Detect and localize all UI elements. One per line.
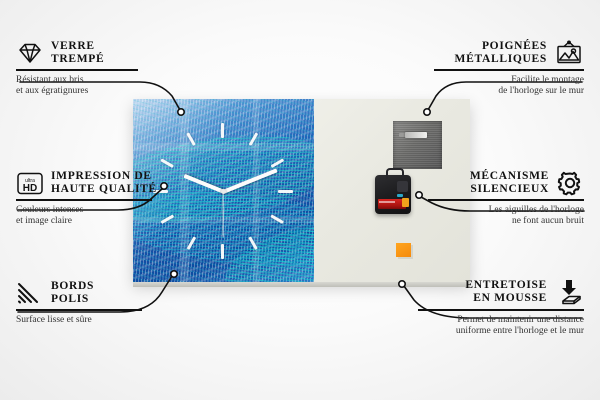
clock-tick	[221, 244, 224, 259]
quartz-movement	[375, 175, 411, 214]
second-hand	[222, 192, 223, 238]
callout-title-line: EN MOUSSE	[465, 292, 547, 305]
movement-hook	[386, 168, 404, 179]
callout-header: ultra HD IMPRESSION DE HAUTE QUALITÉ	[16, 170, 176, 196]
svg-text:HD: HD	[23, 183, 37, 194]
callout-header: BORDS POLIS	[16, 280, 166, 306]
callout-subtitle-line: Surface lisse et sûre	[16, 315, 166, 327]
foam-spacer-icon	[554, 278, 584, 306]
callout-rule	[428, 199, 584, 201]
callout-entretoise-en-mousse: ENTRETOISE EN MOUSSE Permet de maintenir…	[418, 278, 584, 338]
clock-center-hub	[221, 189, 226, 194]
callout-subtitle-line: uniforme entre l'horloge et le mur	[418, 326, 584, 338]
callout-subtitle-line: Couleurs intenses	[16, 205, 176, 217]
ultra-hd-badge-icon: ultra HD	[16, 171, 44, 196]
callout-title-line: TREMPÉ	[51, 53, 104, 66]
callout-subtitle-line: Permet de maintenir une distance	[418, 315, 584, 327]
movement-marker	[397, 194, 403, 197]
product-clock-photo	[133, 99, 470, 282]
hanger-slot	[405, 132, 427, 138]
clock-tick	[278, 190, 293, 193]
callout-subtitle-line: Facilite le montage	[434, 75, 584, 87]
callout-header: POIGNÉES MÉTALLIQUES	[434, 40, 584, 66]
callout-rule	[16, 69, 138, 71]
callout-verre-trempe: VERRE TREMPÉ Résistant aux bris et aux é…	[16, 40, 166, 98]
callout-title-line: IMPRESSION DE	[51, 170, 157, 183]
callout-impression-haute-qualite: ultra HD IMPRESSION DE HAUTE QUALITÉ Cou…	[16, 170, 176, 228]
gear-icon	[556, 170, 584, 196]
callout-rule	[434, 69, 584, 71]
battery-plus-terminal	[402, 198, 409, 207]
callout-subtitle-line: et aux égratignures	[16, 86, 166, 98]
callout-title-line: MÉTALLIQUES	[455, 53, 547, 66]
callout-subtitle-line: Résistant aux bris	[16, 75, 166, 87]
callout-subtitle-line: Les aiguilles de l'horloge	[428, 205, 584, 217]
callout-title-line: MÉCANISME	[470, 170, 549, 183]
metal-hanger-plate	[393, 121, 442, 169]
clock-tick	[221, 123, 224, 138]
callout-mecanisme-silencieux: MÉCANISME SILENCIEUX Les aiguilles de l'…	[428, 170, 584, 228]
callout-subtitle-line: et image claire	[16, 216, 176, 228]
callout-rule	[16, 309, 142, 311]
callout-bords-polis: BORDS POLIS Surface lisse et sûre	[16, 280, 166, 326]
diamond-icon	[16, 41, 44, 65]
callout-header: VERRE TREMPÉ	[16, 40, 166, 66]
callout-rule	[418, 309, 584, 311]
polished-edge-icon	[16, 281, 44, 305]
foam-spacer	[396, 243, 411, 257]
callout-title-line: HAUTE QUALITÉ	[51, 183, 157, 196]
callout-rule	[16, 199, 152, 201]
callout-title-line: SILENCIEUX	[470, 183, 549, 196]
callout-title-line: BORDS	[51, 280, 94, 293]
callout-title-line: POLIS	[51, 293, 94, 306]
wall-mount-frame-icon	[554, 40, 584, 66]
callout-subtitle-line: de l'horloge sur le mur	[434, 86, 584, 98]
callout-subtitle-line: ne font aucun bruit	[428, 216, 584, 228]
callout-title-line: ENTRETOISE	[465, 279, 547, 292]
infographic-canvas: VERRE TREMPÉ Résistant aux bris et aux é…	[0, 0, 600, 400]
callout-header: MÉCANISME SILENCIEUX	[428, 170, 584, 196]
battery-label	[379, 201, 395, 203]
callout-title-line: POIGNÉES	[455, 40, 547, 53]
callout-title-line: VERRE	[51, 40, 104, 53]
callout-header: ENTRETOISE EN MOUSSE	[418, 278, 584, 306]
callout-poignees-metalliques: POIGNÉES MÉTALLIQUES Facilite le montage…	[434, 40, 584, 98]
movement-dial	[397, 181, 408, 192]
